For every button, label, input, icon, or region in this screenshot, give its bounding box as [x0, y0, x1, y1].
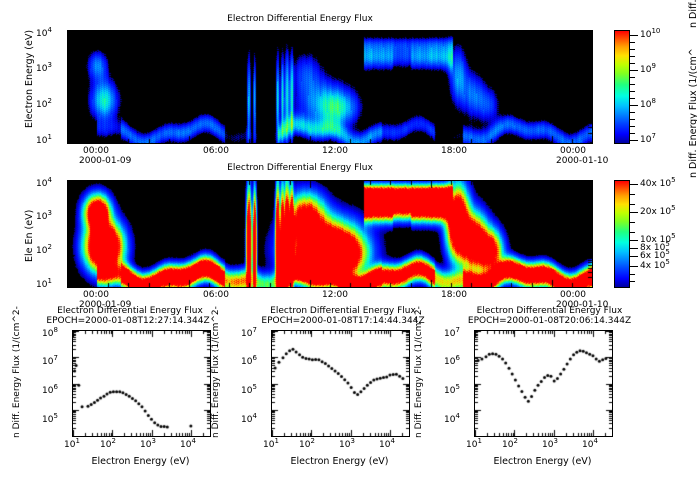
- panel3-xlabel: Electron Energy (eV): [72, 456, 209, 467]
- panel5-xtick: 103: [542, 440, 558, 450]
- panel4-ytick: 105: [241, 386, 257, 396]
- panel4-ytick: 107: [241, 329, 257, 339]
- panel5-xtick: 101: [466, 440, 482, 450]
- panel4-xtick: 103: [339, 440, 355, 450]
- panel2-colorbar-label: 4x 105: [640, 261, 670, 271]
- panel4-subtitle: EPOCH=2000-01-08T17:14:44.344Z: [248, 316, 438, 326]
- panel5-ylabel: n Diff. Energy Flux (1/(cm^2-: [414, 306, 424, 438]
- panel1-ytick: 101: [36, 136, 52, 146]
- panel2-xtick: 12:00: [322, 290, 348, 300]
- panel1-colorbar-title: n Diff. Energy Flux (1/(cm^: [688, 0, 697, 28]
- panel2-colorbar: [614, 180, 630, 288]
- panel1-xtick: 12:00: [322, 146, 348, 156]
- panel4-xlabel: Electron Energy (eV): [271, 456, 408, 467]
- panel4-plot-area: [271, 330, 410, 437]
- panel3-xtick: 102: [100, 440, 116, 450]
- panel4-ytick: 106: [241, 357, 257, 367]
- panel1-title: Electron Differential Energy Flux: [0, 14, 600, 24]
- panel2-colorbar-label: 20x 105: [640, 207, 676, 217]
- panel1-colorbar-label: 109: [640, 65, 656, 75]
- panel5-xtick: 102: [502, 440, 518, 450]
- panel1-colorbar: [614, 30, 630, 144]
- panel5-ytick: 107: [444, 329, 460, 339]
- panel5-subtitle: EPOCH=2000-01-08T20:06:14.344Z: [452, 316, 647, 326]
- panel5-plot-area: [474, 330, 613, 437]
- panel1-xtick: 18:00: [441, 146, 467, 156]
- panel2-plot-area: [67, 180, 593, 288]
- panel5-xtick: 104: [582, 440, 598, 450]
- panel1-colorbar-ticks: [630, 30, 640, 142]
- panel4-xtick: 101: [263, 440, 279, 450]
- panel3-ytick: 107: [42, 357, 58, 367]
- panel3-xtick: 103: [140, 440, 156, 450]
- panel3-ytick: 108: [42, 329, 58, 339]
- panel1-ylabel: Electron Energy (eV): [24, 30, 35, 128]
- panel1-xtick: 00:00: [560, 146, 586, 156]
- panel1-colorbar-label: 1010: [640, 30, 660, 40]
- panel1-ytick: 104: [36, 29, 52, 39]
- panel1-colorbar-label: 107: [640, 135, 656, 145]
- panel3-xtick: 101: [64, 440, 80, 450]
- panel3-xtick: 104: [180, 440, 196, 450]
- panel1-colorbar-label: 108: [640, 100, 656, 110]
- panel3-ytick: 106: [42, 386, 58, 396]
- panel1-xtick: 00:00: [83, 146, 109, 156]
- panel2-xtick: 18:00: [441, 290, 467, 300]
- panel5-xlabel: Electron Energy (eV): [474, 456, 611, 467]
- panel2-ytick: 101: [36, 280, 52, 290]
- panel1-ytick: 103: [36, 64, 52, 74]
- panel5-title: Electron Differential Energy Flux: [452, 306, 647, 316]
- panel4-ylabel: n Diff. Energy Flux (1/(cm^2-: [211, 306, 221, 438]
- panel2-colorbar-ticks: [630, 180, 640, 286]
- panel4-title: Electron Differential Energy Flux: [248, 306, 438, 316]
- panel2-ytick: 104: [36, 179, 52, 189]
- panel2-title: Electron Differential Energy Flux: [0, 163, 600, 173]
- panel1-xtick: 06:00: [203, 146, 229, 156]
- panel1-plot-area: [67, 30, 593, 144]
- panel3-ytick: 105: [42, 415, 58, 425]
- panel2-ytick: 102: [36, 246, 52, 256]
- panel2-colorbar-label: 10x 105: [640, 235, 676, 245]
- panel4-ytick: 104: [241, 415, 257, 425]
- panel3-plot-area: [72, 330, 211, 437]
- panel5-ytick: 104: [444, 415, 460, 425]
- panel5-ytick: 106: [444, 357, 460, 367]
- panel1-ytick: 102: [36, 100, 52, 110]
- panel2-colorbar-label: 40x 105: [640, 179, 676, 189]
- panel2-ylabel: Ele En (eV): [24, 210, 35, 262]
- panel2-xtick: 00:00: [560, 290, 586, 300]
- panel3-subtitle: EPOCH=2000-01-08T12:27:14.344Z: [28, 316, 228, 326]
- panel2-xtick: 06:00: [203, 290, 229, 300]
- panel3-title: Electron Differential Energy Flux: [40, 306, 220, 316]
- panel2-colorbar-title: n Diff. Energy Flux (1/(cm^: [688, 48, 697, 178]
- panel2-ytick: 103: [36, 212, 52, 222]
- panel3-ylabel: n Diff. Energy Flux (1/(cm^2-: [12, 306, 22, 438]
- panel2-xtick: 00:00: [83, 290, 109, 300]
- panel4-xtick: 104: [379, 440, 395, 450]
- panel4-xtick: 102: [299, 440, 315, 450]
- panel5-ytick: 105: [444, 386, 460, 396]
